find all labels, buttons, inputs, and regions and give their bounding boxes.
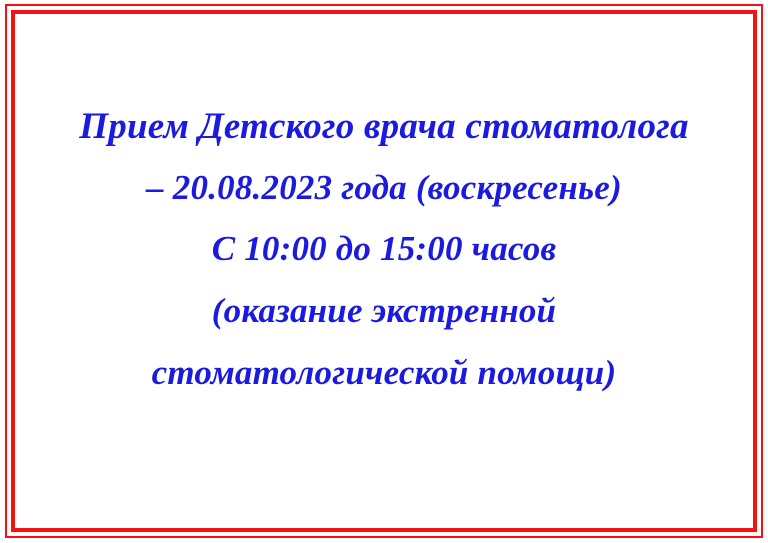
notice-text-block: Прием Детского врача стоматолога – 20.08… [24,96,744,404]
announcement-page: Прием Детского врача стоматолога – 20.08… [0,0,768,543]
notice-line-service-part2: стоматологической помощи) [24,342,744,404]
notice-line-date: – 20.08.2023 года (воскресенье) [24,158,744,218]
notice-line-hours: С 10:00 до 15:00 часов [24,218,744,280]
page-content: Прием Детского врача стоматолога – 20.08… [24,24,744,519]
notice-line-title: Прием Детского врача стоматолога [24,96,744,158]
notice-line-service-part1: (оказание экстренной [24,280,744,342]
